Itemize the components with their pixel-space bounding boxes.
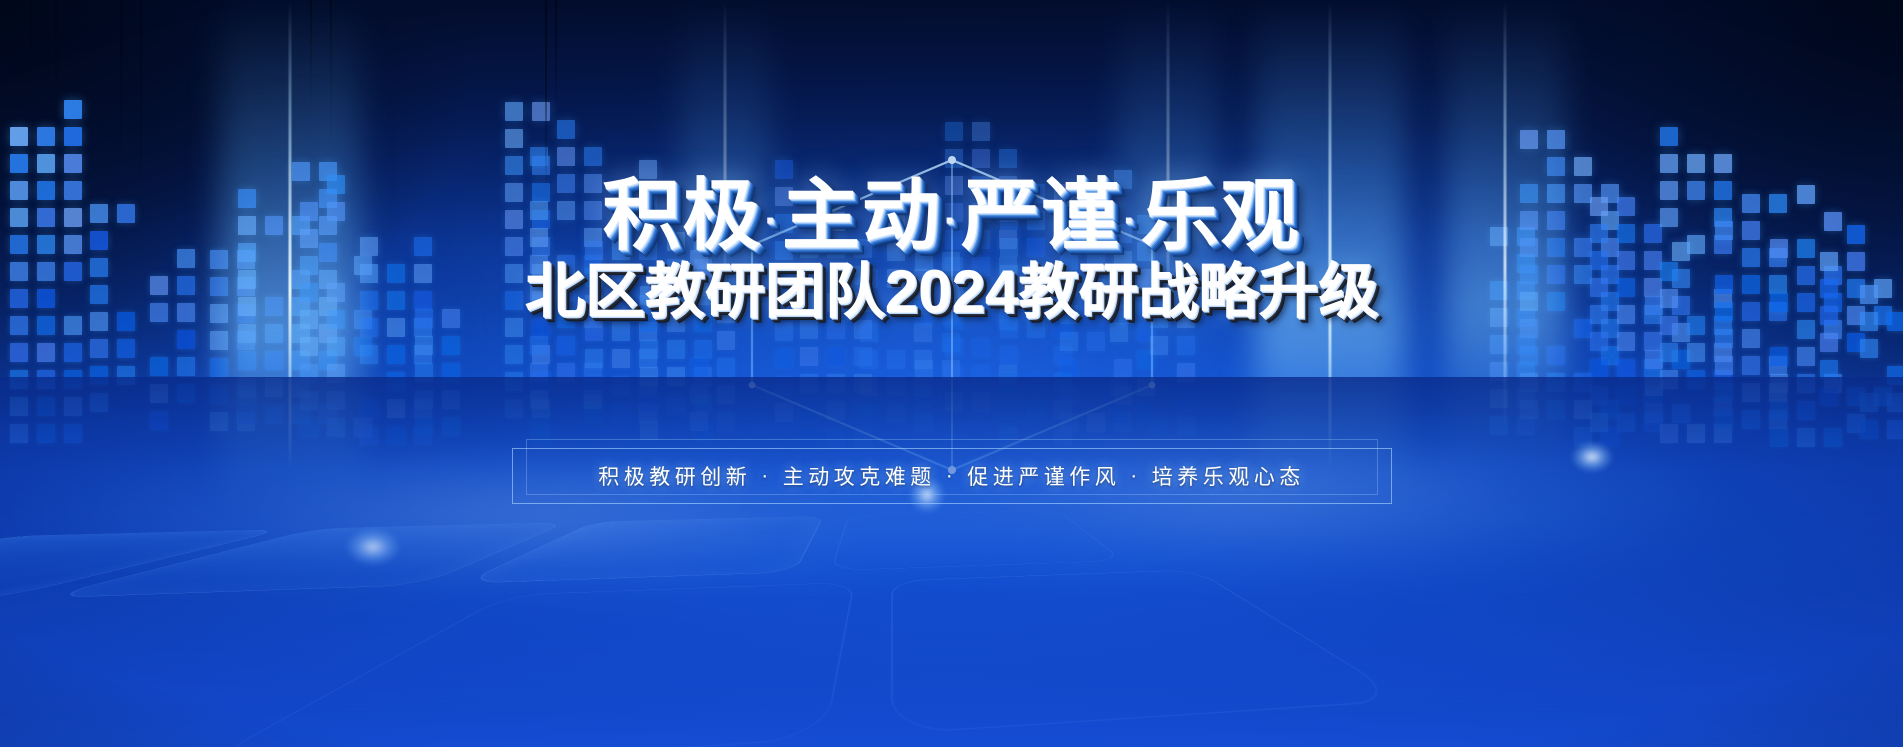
banner-stage: 积极·主动·严谨·乐观 北区教研团队2024教研战略升级 积极教研创新 · 主动…: [0, 0, 1903, 747]
edge-vignette: [0, 0, 1903, 747]
